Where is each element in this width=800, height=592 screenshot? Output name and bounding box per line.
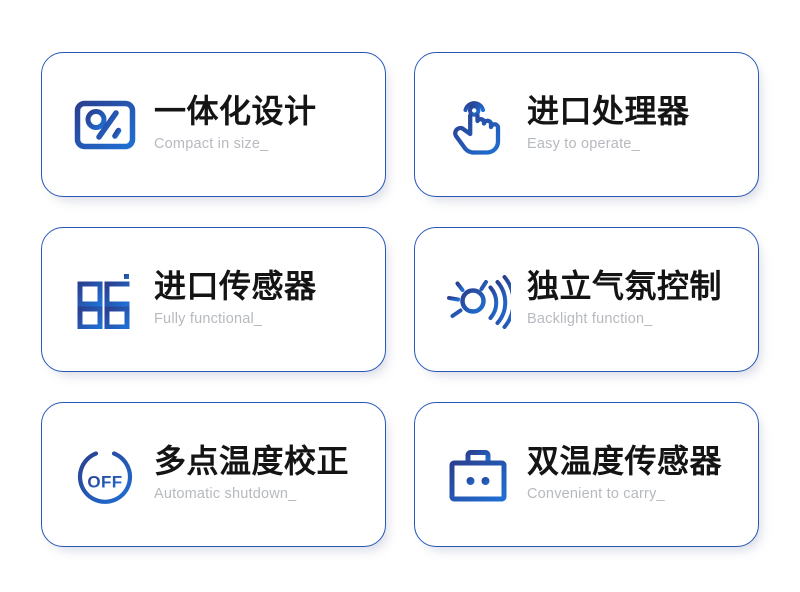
feature-card-dual-temperature-sensor[interactable]: 双温度传感器 Convenient to carry_ (414, 402, 759, 547)
card-text-block: 一体化设计 Compact in size_ (154, 94, 317, 155)
card-text-block: 进口传感器 Fully functional_ (154, 269, 317, 330)
card-title: 独立气氛控制 (527, 269, 722, 304)
svg-text:OFF: OFF (87, 472, 122, 491)
feature-card-imported-sensor[interactable]: 进口传感器 Fully functional_ (41, 227, 386, 372)
card-text-block: 双温度传感器 Convenient to carry_ (527, 444, 722, 505)
grid-squares-icon (70, 265, 140, 335)
tap-hand-icon (443, 90, 513, 160)
card-subtitle: Backlight function_ (527, 312, 722, 328)
card-subtitle: Easy to operate_ (527, 137, 690, 153)
card-title: 多点温度校正 (154, 444, 349, 479)
feature-card-imported-processor[interactable]: 进口处理器 Easy to operate_ (414, 52, 759, 197)
card-text-block: 进口处理器 Easy to operate_ (527, 94, 690, 155)
feature-card-grid: 一体化设计 Compact in size_ 进口处理器 Easy to ope… (0, 0, 800, 592)
card-subtitle: Automatic shutdown_ (154, 487, 349, 503)
feature-card-multipoint-calibration[interactable]: OFF 多点温度校正 Automatic shutdown_ (41, 402, 386, 547)
card-title: 双温度传感器 (527, 444, 722, 479)
toolbox-icon (443, 440, 513, 510)
card-title: 进口传感器 (154, 269, 317, 304)
card-subtitle: Convenient to carry_ (527, 487, 722, 503)
percent-screen-icon (70, 90, 140, 160)
power-off-icon: OFF (70, 440, 140, 510)
card-title: 进口处理器 (527, 94, 690, 129)
card-text-block: 多点温度校正 Automatic shutdown_ (154, 444, 349, 505)
card-subtitle: Fully functional_ (154, 312, 317, 328)
card-text-block: 独立气氛控制 Backlight function_ (527, 269, 722, 330)
sun-signal-icon (443, 265, 513, 335)
feature-card-atmosphere-control[interactable]: 独立气氛控制 Backlight function_ (414, 227, 759, 372)
card-title: 一体化设计 (154, 94, 317, 129)
card-subtitle: Compact in size_ (154, 137, 317, 153)
feature-card-integrated-design[interactable]: 一体化设计 Compact in size_ (41, 52, 386, 197)
